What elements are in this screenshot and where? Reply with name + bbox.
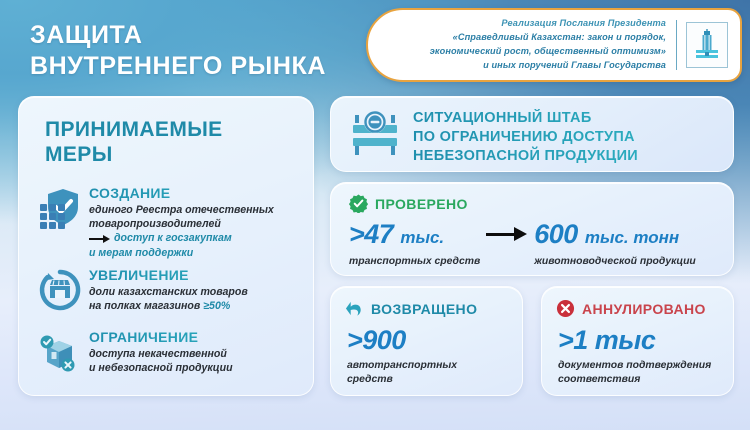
green-check-seal-icon: [349, 194, 368, 213]
page-title-line1: ЗАЩИТА: [30, 20, 360, 51]
return-arrow-icon: [345, 299, 364, 318]
shop-circular-arrow-icon: [39, 267, 85, 316]
measure-body-line2: на полках магазинов: [89, 300, 200, 312]
box-check-cross-icon: [39, 329, 85, 378]
badge-line-1: Реализация Послания Президента: [368, 17, 666, 31]
arrow-right-icon: [89, 235, 111, 243]
measure-text-increase: УВЕЛИЧЕНИЕ доли казахстанских товаров на…: [85, 267, 301, 316]
checked-right-sub: животноводческой продукции: [534, 255, 696, 269]
measure-head-restriction: ОГРАНИЧЕНИЕ: [89, 329, 301, 345]
measure-body-line3: доступ к госзакупкам: [114, 232, 232, 244]
measure-body-line1: доли казахстанских товаров: [89, 285, 301, 299]
badge-line-4: и иных поручений Главы Государства: [368, 59, 666, 73]
returned-header: ВОЗВРАЩЕНО: [345, 299, 477, 318]
page-title: ЗАЩИТА ВНУТРЕННЕГО РЫНКА: [30, 20, 360, 81]
returned-sub-line2: средств: [347, 373, 512, 387]
annulled-stat-card: АННУЛИРОВАНО >1 тыс документов подтвержд…: [541, 286, 734, 396]
measure-text-creation: СОЗДАНИЕ единого Реестра отечественных т…: [85, 185, 301, 260]
measure-item-increase: УВЕЛИЧЕНИЕ доли казахстанских товаров на…: [39, 267, 301, 316]
infographic-canvas: ЗАЩИТА ВНУТРЕННЕГО РЫНКА Реализация Посл…: [0, 0, 750, 430]
checked-right-value: 600: [534, 219, 578, 249]
checked-values-row: >47 тыс. транспортных средств 600 тыс. т…: [349, 221, 719, 269]
shield-check-grid-icon: [39, 185, 85, 260]
checked-right-col: 600 тыс. тонн животноводческой продукции: [534, 221, 696, 269]
hq-line-3: НЕБЕЗОПАСНОЙ ПРОДУКЦИИ: [413, 147, 723, 166]
red-cross-circle-icon: [556, 299, 575, 318]
checked-left-col: >47 тыс. транспортных средств: [349, 221, 480, 269]
measure-body-accent: ≥50%: [203, 300, 230, 312]
measure-body-line2: и небезопасной продукции: [89, 361, 301, 375]
annulled-sub-line1: документов подтверждения: [558, 359, 725, 373]
measure-body-line2: товаропроизводителей: [89, 217, 301, 231]
measure-body-creation: единого Реестра отечественных товаропрои…: [89, 203, 301, 260]
measure-body-line4: и мерам поддержки: [89, 246, 301, 260]
returned-sub: автотранспортных средств: [347, 359, 512, 386]
measure-body-line1: единого Реестра отечественных: [89, 203, 301, 217]
hq-line-1: СИТУАЦИОННЫЙ ШТАБ: [413, 109, 723, 128]
situational-hq-card: СИТУАЦИОННЫЙ ШТАБ ПО ОГРАНИЧЕНИЮ ДОСТУПА…: [330, 96, 734, 172]
situational-hq-text: СИТУАЦИОННЫЙ ШТАБ ПО ОГРАНИЧЕНИЮ ДОСТУПА…: [413, 109, 723, 166]
measures-heading-line2: МЕРЫ: [45, 142, 285, 167]
checked-right-value-wrap: 600 тыс. тонн: [534, 221, 696, 248]
measure-body-restriction: доступа некачественной и небезопасной пр…: [89, 347, 301, 375]
annulled-label: АННУЛИРОВАНО: [582, 301, 706, 317]
measure-body-increase: доли казахстанских товаров на полках маг…: [89, 285, 301, 313]
checked-left-value-wrap: >47 тыс.: [349, 221, 480, 248]
arrow-right-icon: [484, 221, 530, 248]
annulled-header: АННУЛИРОВАНО: [556, 299, 706, 318]
checked-right-unit: тыс. тонн: [585, 228, 679, 247]
checked-label: ПРОВЕРЕНО: [375, 196, 468, 212]
barrier-no-entry-icon: [347, 107, 403, 163]
checked-header: ПРОВЕРЕНО: [349, 194, 468, 213]
returned-sub-line1: автотранспортных: [347, 359, 512, 373]
checked-left-sub: транспортных средств: [349, 255, 480, 269]
badge-text-block: Реализация Послания Президента «Справедл…: [368, 17, 676, 73]
annulled-value: >1 тыс: [558, 327, 655, 354]
returned-stat-card: ВОЗВРАЩЕНО >900 автотранспортных средств: [330, 286, 523, 396]
measure-body-line1: доступа некачественной: [89, 347, 301, 361]
measure-text-restriction: ОГРАНИЧЕНИЕ доступа некачественной и неб…: [85, 329, 301, 378]
measure-head-increase: УВЕЛИЧЕНИЕ: [89, 267, 301, 283]
badge-line-3: экономический рост, общественный оптимиз…: [368, 45, 666, 59]
checked-left-unit: тыс.: [400, 228, 444, 247]
measure-head-creation: СОЗДАНИЕ: [89, 185, 301, 201]
returned-value: >900: [347, 327, 406, 354]
measures-heading: ПРИНИМАЕМЫЕ МЕРЫ: [45, 117, 285, 167]
akorda-building-icon: [686, 22, 728, 68]
measures-heading-line1: ПРИНИМАЕМЫЕ: [45, 117, 285, 142]
checked-stat-card: ПРОВЕРЕНО >47 тыс. транспортных средств …: [330, 182, 734, 276]
measures-card: ПРИНИМАЕМЫЕ МЕРЫ СОЗДАНИЕ еди: [18, 96, 314, 396]
president-address-badge: Реализация Послания Президента «Справедл…: [366, 8, 742, 82]
returned-label: ВОЗВРАЩЕНО: [371, 301, 477, 317]
annulled-sub-line2: соответствия: [558, 373, 725, 387]
badge-divider: [676, 20, 677, 70]
annulled-sub: документов подтверждения соответствия: [558, 359, 725, 386]
badge-line-2: «Справедливый Казахстан: закон и порядок…: [368, 31, 666, 45]
measure-item-restriction: ОГРАНИЧЕНИЕ доступа некачественной и неб…: [39, 329, 301, 378]
measure-item-creation: СОЗДАНИЕ единого Реестра отечественных т…: [39, 185, 301, 260]
page-title-line2: ВНУТРЕННЕГО РЫНКА: [30, 51, 360, 82]
checked-left-value: >47: [349, 219, 393, 249]
hq-line-2: ПО ОГРАНИЧЕНИЮ ДОСТУПА: [413, 128, 723, 147]
